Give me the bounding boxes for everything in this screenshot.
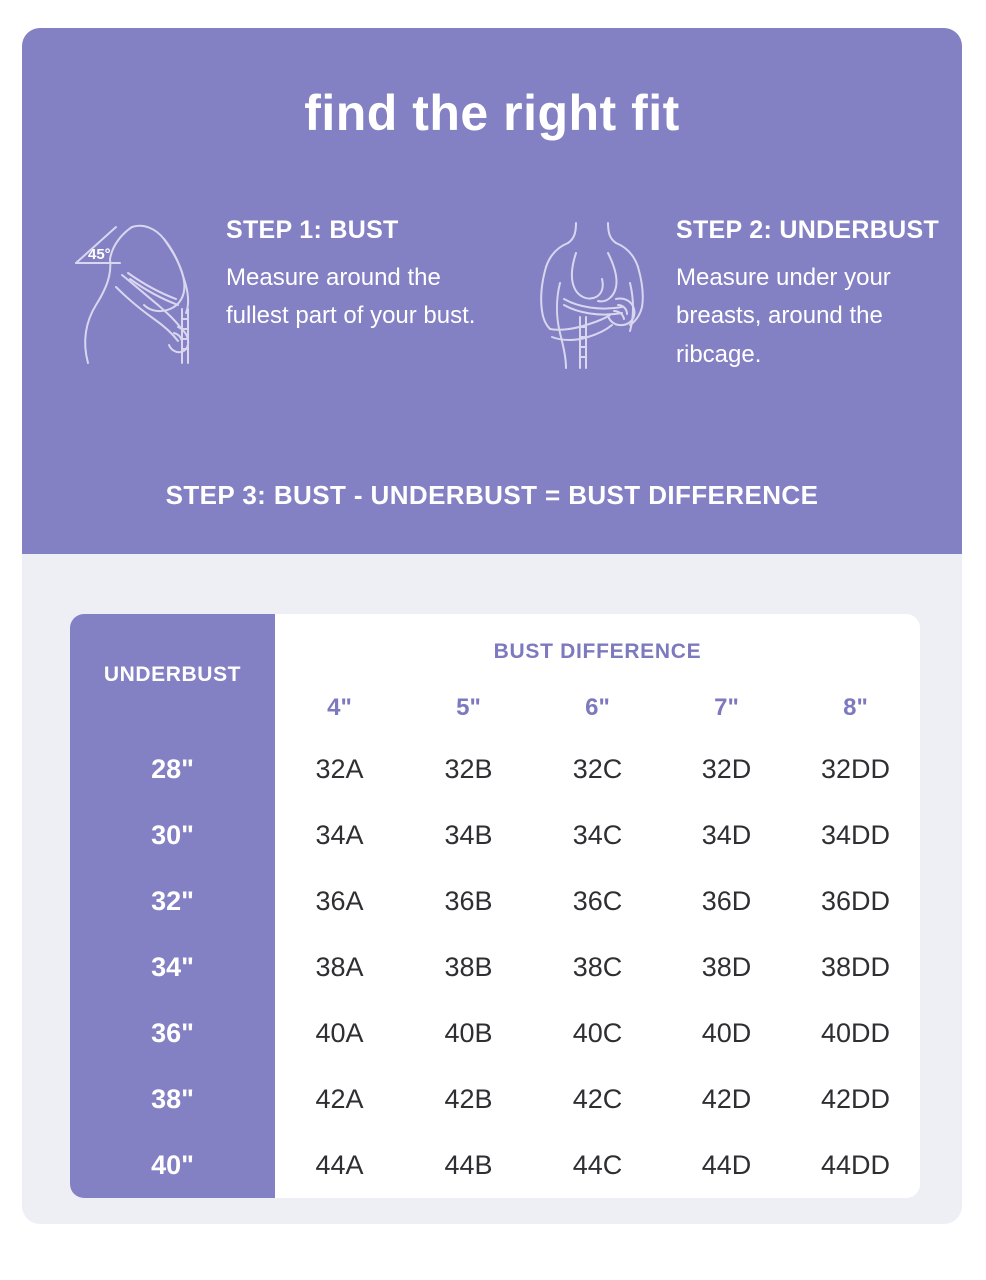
bust-measure-side-figure-icon: 45° xyxy=(70,213,210,373)
bust-difference-title: BUST DIFFERENCE xyxy=(275,640,920,664)
bra-size-cell: 32D xyxy=(662,754,791,785)
step-2-block: STEP 2: UNDERBUST Measure under your bre… xyxy=(530,213,960,375)
table-row: 44A44B44C44D44DD xyxy=(275,1132,920,1198)
bust-difference-column-header-3: 6" xyxy=(533,694,662,722)
underbust-cell: 40" xyxy=(70,1132,275,1198)
bra-size-cell: 32A xyxy=(275,754,404,785)
bra-size-cell: 40DD xyxy=(791,1018,920,1049)
size-chart-section: UNDERBUST 28"30"32"34"36"38"40" BUST DIF… xyxy=(22,554,962,1224)
hero-panel: find the right fit 45° xyxy=(22,28,962,554)
step-1-body: Measure around the fullest part of your … xyxy=(226,259,510,337)
underbust-measure-front-figure-icon xyxy=(530,213,660,373)
bra-size-cell: 34DD xyxy=(791,820,920,851)
bra-size-cell: 44A xyxy=(275,1150,404,1181)
bra-size-cell: 36C xyxy=(533,886,662,917)
bust-difference-column-header-4: 7" xyxy=(662,694,791,722)
bust-difference-column-header-1: 4" xyxy=(275,694,404,722)
underbust-cell: 38" xyxy=(70,1066,275,1132)
size-chart-table: UNDERBUST 28"30"32"34"36"38"40" BUST DIF… xyxy=(70,614,920,1198)
bra-size-cell: 38D xyxy=(662,952,791,983)
underbust-cell: 34" xyxy=(70,934,275,1000)
step-2-text: STEP 2: UNDERBUST Measure under your bre… xyxy=(676,213,960,375)
bra-size-cell: 40A xyxy=(275,1018,404,1049)
table-row: 42A42B42C42D42DD xyxy=(275,1066,920,1132)
step-1-block: 45° xyxy=(70,213,510,375)
bra-size-cell: 40D xyxy=(662,1018,791,1049)
underbust-cell: 30" xyxy=(70,802,275,868)
bust-difference-column-header-5: 8" xyxy=(791,694,920,722)
table-row: 38A38B38C38D38DD xyxy=(275,934,920,1000)
bra-size-cell: 44DD xyxy=(791,1150,920,1181)
svg-text:45°: 45° xyxy=(88,246,111,263)
bust-difference-column-header-2: 5" xyxy=(404,694,533,722)
bust-difference-header: BUST DIFFERENCE 4"5"6"7"8" xyxy=(275,614,920,736)
bra-size-cell: 44D xyxy=(662,1150,791,1181)
bust-difference-column-group: BUST DIFFERENCE 4"5"6"7"8" 32A32B32C32D3… xyxy=(275,614,920,1198)
bra-size-cell: 32DD xyxy=(791,754,920,785)
underbust-column-header: UNDERBUST xyxy=(70,614,275,736)
steps-row: 45° xyxy=(22,213,962,375)
table-row: 32A32B32C32D32DD xyxy=(275,736,920,802)
bra-size-cell: 34A xyxy=(275,820,404,851)
table-row: 36A36B36C36D36DD xyxy=(275,868,920,934)
step-2-body: Measure under your breasts, around the r… xyxy=(676,259,960,376)
underbust-cell: 28" xyxy=(70,736,275,802)
bra-size-cell: 44C xyxy=(533,1150,662,1181)
bra-size-cell: 38A xyxy=(275,952,404,983)
bra-size-cell: 44B xyxy=(404,1150,533,1181)
underbust-column: UNDERBUST 28"30"32"34"36"38"40" xyxy=(70,614,275,1198)
underbust-cell: 36" xyxy=(70,1000,275,1066)
step-2-heading: STEP 2: UNDERBUST xyxy=(676,217,960,245)
bra-size-cell: 38DD xyxy=(791,952,920,983)
bra-size-cell: 36A xyxy=(275,886,404,917)
step-3-formula: STEP 3: BUST - UNDERBUST = BUST DIFFEREN… xyxy=(22,480,962,511)
bra-size-cell: 36DD xyxy=(791,886,920,917)
step-1-text: STEP 1: BUST Measure around the fullest … xyxy=(226,213,510,336)
step-1-heading: STEP 1: BUST xyxy=(226,217,510,245)
bra-size-cell: 42C xyxy=(533,1084,662,1115)
bra-size-cell: 38B xyxy=(404,952,533,983)
bra-size-cell: 38C xyxy=(533,952,662,983)
table-row: 40A40B40C40D40DD xyxy=(275,1000,920,1066)
bra-size-cell: 42D xyxy=(662,1084,791,1115)
bra-size-cell: 42A xyxy=(275,1084,404,1115)
bra-size-cell: 32C xyxy=(533,754,662,785)
bra-size-cell: 40C xyxy=(533,1018,662,1049)
table-row: 34A34B34C34D34DD xyxy=(275,802,920,868)
bra-size-cell: 42DD xyxy=(791,1084,920,1115)
page-title: find the right fit xyxy=(22,88,962,138)
bra-size-cell: 40B xyxy=(404,1018,533,1049)
bra-size-cell: 32B xyxy=(404,754,533,785)
bra-size-cell: 36B xyxy=(404,886,533,917)
bra-size-cell: 34D xyxy=(662,820,791,851)
bra-size-cell: 42B xyxy=(404,1084,533,1115)
bust-difference-column-headers: 4"5"6"7"8" xyxy=(275,694,920,722)
bra-size-cell: 34B xyxy=(404,820,533,851)
bra-size-cell: 36D xyxy=(662,886,791,917)
underbust-cell: 32" xyxy=(70,868,275,934)
bra-size-cell: 34C xyxy=(533,820,662,851)
